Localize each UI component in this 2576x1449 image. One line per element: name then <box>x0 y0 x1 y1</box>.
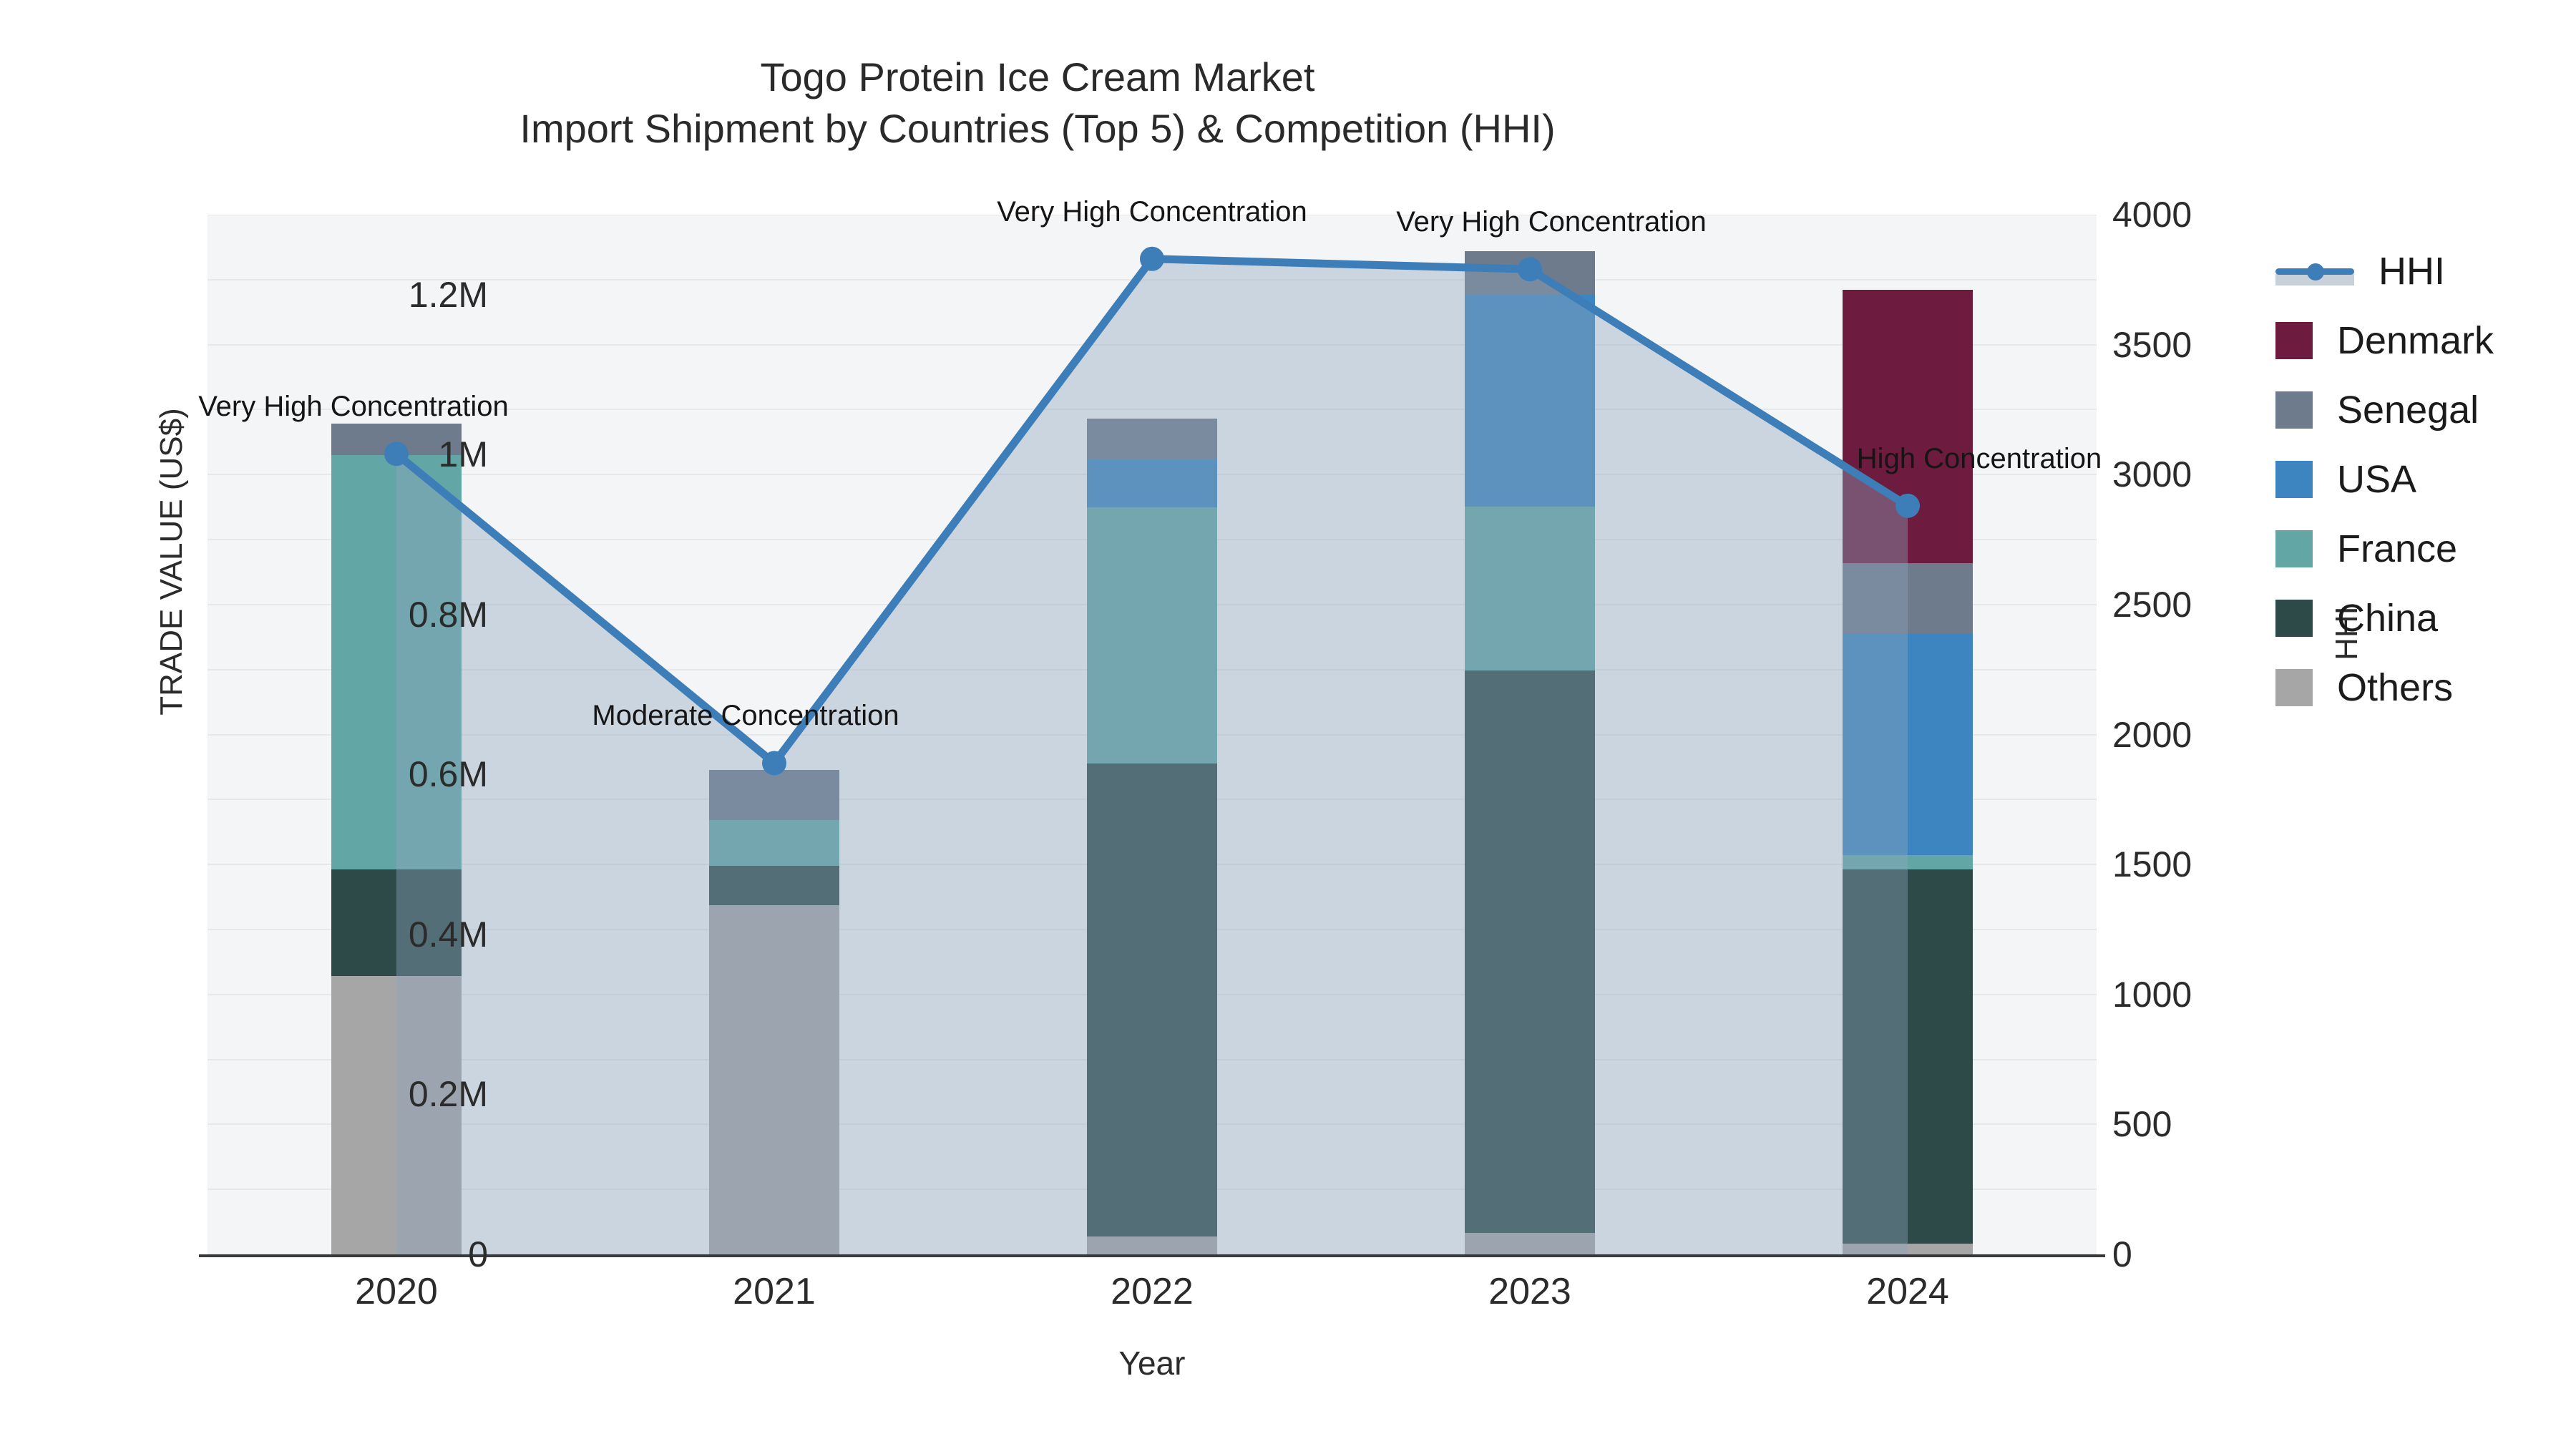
legend-item-hhi[interactable]: HHI <box>2275 236 2576 306</box>
hhi-area-fill <box>396 259 1908 1254</box>
legend-item-usa[interactable]: USA <box>2275 444 2576 514</box>
legend-swatch-icon <box>2275 322 2313 359</box>
secondary-y-tick-label: 2000 <box>2112 714 2192 756</box>
hhi-marker[interactable] <box>1896 494 1920 518</box>
legend-label: Denmark <box>2337 321 2494 360</box>
legend-label: Others <box>2337 668 2453 707</box>
y-tick-label: 1.2M <box>409 274 488 316</box>
legend-swatch-icon <box>2275 530 2313 567</box>
hhi-marker[interactable] <box>762 751 786 775</box>
secondary-y-tick-label: 0 <box>2112 1234 2132 1275</box>
x-tick-label: 2020 <box>355 1270 438 1313</box>
secondary-y-tick-label: 3500 <box>2112 324 2192 366</box>
legend-swatch-icon <box>2275 669 2313 706</box>
legend-label: France <box>2337 530 2457 568</box>
plot-inner <box>208 215 2097 1254</box>
y-tick-label: 0 <box>468 1234 488 1275</box>
y-tick-label: 0.6M <box>409 753 488 795</box>
x-tick-label: 2023 <box>1488 1270 1571 1313</box>
legend-line-dot-icon <box>2307 263 2324 280</box>
x-tick-label: 2024 <box>1866 1270 1949 1313</box>
plot-area <box>208 215 2097 1254</box>
secondary-y-tick-label: 1500 <box>2112 844 2192 885</box>
chart-title: Togo Protein Ice Cream Market Import Shi… <box>0 52 2075 155</box>
secondary-y-tick-label: 3000 <box>2112 454 2192 495</box>
y-tick-label: 0.8M <box>409 594 488 635</box>
legend-swatch-icon <box>2275 600 2313 637</box>
legend-label: USA <box>2337 460 2416 499</box>
legend-label: Senegal <box>2337 391 2479 429</box>
legend-label: China <box>2337 599 2438 638</box>
concentration-annotation: Very High Concentration <box>997 196 1307 228</box>
legend-swatch-icon <box>2275 391 2313 429</box>
legend-item-senegal[interactable]: Senegal <box>2275 375 2576 444</box>
hhi-marker[interactable] <box>1518 257 1542 281</box>
secondary-y-tick-label: 4000 <box>2112 194 2192 235</box>
y-tick-label: 0.4M <box>409 914 488 955</box>
y-tick-label: 0.2M <box>409 1073 488 1115</box>
legend: HHIDenmarkSenegalUSAFranceChinaOthers <box>2275 236 2576 722</box>
legend-line-marker-icon <box>2275 253 2354 290</box>
x-tick-label: 2022 <box>1111 1270 1194 1313</box>
chart-title-line-2: Import Shipment by Countries (Top 5) & C… <box>0 103 2075 155</box>
x-tick-label: 2021 <box>733 1270 816 1313</box>
hhi-line-layer <box>208 215 2097 1254</box>
legend-item-denmark[interactable]: Denmark <box>2275 306 2576 375</box>
secondary-y-tick-label: 1000 <box>2112 974 2192 1015</box>
legend-item-others[interactable]: Others <box>2275 653 2576 722</box>
concentration-annotation: Very High Concentration <box>198 391 509 423</box>
x-axis-label: Year <box>208 1344 2097 1382</box>
secondary-y-tick-label: 2500 <box>2112 584 2192 625</box>
secondary-y-tick-label: 500 <box>2112 1103 2172 1145</box>
concentration-annotation: Very High Concentration <box>1396 206 1707 238</box>
legend-swatch-icon <box>2275 461 2313 498</box>
y-axis-label: TRADE VALUE (US$) <box>154 347 190 776</box>
legend-item-china[interactable]: China <box>2275 583 2576 653</box>
legend-item-france[interactable]: France <box>2275 514 2576 583</box>
chart-title-line-1: Togo Protein Ice Cream Market <box>0 52 2075 103</box>
concentration-annotation: High Concentration <box>1857 443 2102 475</box>
hhi-marker[interactable] <box>384 441 409 466</box>
legend-label: HHI <box>2379 252 2445 291</box>
hhi-marker[interactable] <box>1140 247 1164 271</box>
chart-figure: Togo Protein Ice Cream Market Import Shi… <box>0 0 2576 1449</box>
y-tick-label: 1M <box>439 434 488 475</box>
concentration-annotation: Moderate Concentration <box>592 700 899 732</box>
